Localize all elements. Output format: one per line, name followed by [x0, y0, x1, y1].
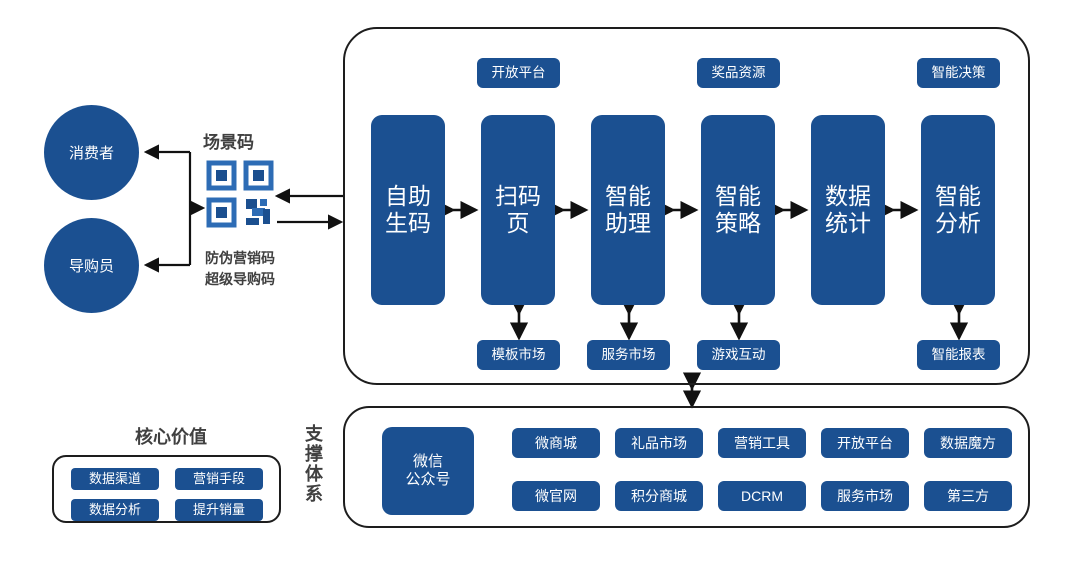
tile-line2: 公众号	[405, 471, 450, 489]
chip-marketing-means[interactable]: 营销手段	[175, 468, 263, 490]
scene-code-title: 场景码	[203, 128, 254, 153]
tag-game-interaction[interactable]: 游戏互动	[697, 340, 780, 370]
card-smart-analysis[interactable]: 智能 分析	[921, 115, 995, 305]
tile-label: 积分商城	[631, 488, 687, 505]
tile-label: 微商城	[535, 435, 577, 452]
card-line1: 智能	[715, 183, 761, 210]
tag-prize-resource[interactable]: 奖品资源	[697, 58, 780, 88]
tile-label: 营销工具	[734, 435, 790, 452]
tag-label: 智能报表	[932, 347, 986, 363]
chip-label: 营销手段	[193, 471, 245, 486]
tag-label: 服务市场	[602, 347, 656, 363]
actor-guide-label: 导购员	[69, 255, 114, 276]
qr-code-icon	[206, 160, 274, 228]
card-line1: 智能	[605, 183, 651, 210]
tile-label: 礼品市场	[631, 435, 687, 452]
chip-data-channel[interactable]: 数据渠道	[71, 468, 159, 490]
chip-label: 数据渠道	[89, 471, 141, 486]
tag-label: 开放平台	[492, 65, 546, 81]
card-line2: 统计	[825, 210, 871, 237]
tag-label: 智能决策	[932, 65, 986, 81]
tile-marketing-tools[interactable]: 营销工具	[718, 428, 806, 458]
tile-dcrm[interactable]: DCRM	[718, 481, 806, 511]
tile-line1: 微信	[405, 453, 450, 471]
card-line1: 自助	[385, 183, 431, 210]
tile-third-party[interactable]: 第三方	[924, 481, 1012, 511]
card-line2: 分析	[935, 210, 981, 237]
tile-label: 服务市场	[837, 488, 893, 505]
tag-open-platform-top[interactable]: 开放平台	[477, 58, 560, 88]
scene-code-subtitle: 防伪营销码 超级导购码	[190, 248, 290, 290]
tile-wechat-official-account[interactable]: 微信 公众号	[382, 427, 474, 515]
tile-label: 数据魔方	[940, 435, 996, 452]
tile-label: 开放平台	[837, 435, 893, 452]
tile-points-mall[interactable]: 积分商城	[615, 481, 703, 511]
card-line2: 生码	[385, 210, 431, 237]
tile-gift-market[interactable]: 礼品市场	[615, 428, 703, 458]
tag-label: 游戏互动	[712, 347, 766, 363]
tile-label: 微官网	[535, 488, 577, 505]
chip-data-analysis[interactable]: 数据分析	[71, 499, 159, 521]
tile-wei-website[interactable]: 微官网	[512, 481, 600, 511]
card-line2: 策略	[715, 210, 761, 237]
card-scan-page[interactable]: 扫码 页	[481, 115, 555, 305]
card-line2: 页	[495, 210, 541, 237]
card-line2: 助理	[605, 210, 651, 237]
card-smart-assistant[interactable]: 智能 助理	[591, 115, 665, 305]
chip-label: 数据分析	[89, 502, 141, 517]
tile-label: 第三方	[947, 488, 989, 505]
card-self-code[interactable]: 自助 生码	[371, 115, 445, 305]
tile-data-cube[interactable]: 数据魔方	[924, 428, 1012, 458]
card-data-stats[interactable]: 数据 统计	[811, 115, 885, 305]
card-smart-strategy[interactable]: 智能 策略	[701, 115, 775, 305]
scene-code-sub-line1: 防伪营销码	[190, 248, 290, 269]
card-line1: 数据	[825, 183, 871, 210]
chip-label: 提升销量	[193, 502, 245, 517]
actor-guide[interactable]: 导购员	[44, 218, 139, 313]
tag-label: 模板市场	[492, 347, 546, 363]
tag-template-market[interactable]: 模板市场	[477, 340, 560, 370]
card-line1: 智能	[935, 183, 981, 210]
support-system-title: 支撑体系	[300, 424, 326, 504]
tag-smart-report[interactable]: 智能报表	[917, 340, 1000, 370]
diagram-canvas: 消费者 导购员 场景码 防伪营销码 超级导购码 开放平台 奖品资源 智能决策	[0, 0, 1080, 564]
core-value-title: 核心价值	[135, 423, 207, 449]
tag-label: 奖品资源	[712, 65, 766, 81]
tile-wei-mall[interactable]: 微商城	[512, 428, 600, 458]
tag-service-market-main[interactable]: 服务市场	[587, 340, 670, 370]
tile-label: DCRM	[741, 488, 783, 505]
tag-smart-decision[interactable]: 智能决策	[917, 58, 1000, 88]
scene-code-sub-line2: 超级导购码	[190, 269, 290, 290]
tile-service-market[interactable]: 服务市场	[821, 481, 909, 511]
card-line1: 扫码	[495, 183, 541, 210]
tile-open-platform[interactable]: 开放平台	[821, 428, 909, 458]
actor-consumer[interactable]: 消费者	[44, 105, 139, 200]
actor-consumer-label: 消费者	[69, 142, 114, 163]
chip-boost-sales[interactable]: 提升销量	[175, 499, 263, 521]
